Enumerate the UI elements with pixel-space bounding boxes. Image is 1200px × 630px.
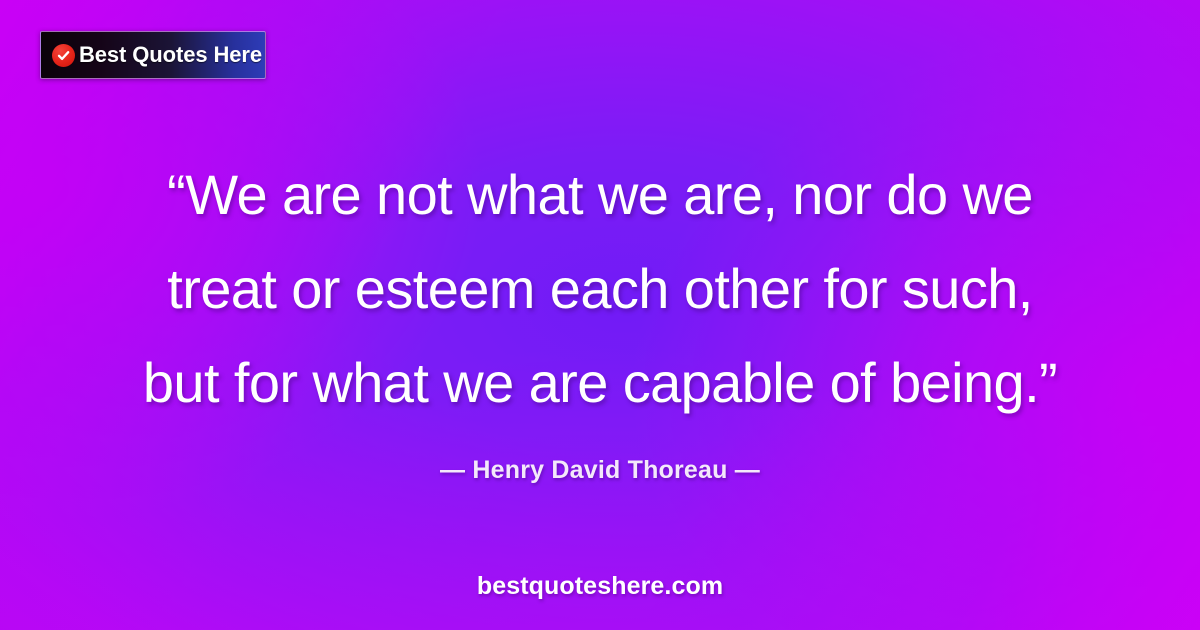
verified-check-icon bbox=[52, 44, 75, 67]
brand-badge[interactable]: Best Quotes Here bbox=[40, 31, 266, 79]
quote-text: “We are not what we are, nor do we treat… bbox=[0, 148, 1200, 430]
quote-attribution: — Henry David Thoreau — bbox=[0, 456, 1200, 485]
quote-line-2: treat or esteem each other for such, bbox=[60, 242, 1140, 336]
quote-line-3: but for what we are capable of being.” bbox=[60, 336, 1140, 430]
brand-name-label: Best Quotes Here bbox=[79, 44, 262, 66]
quote-line-1: “We are not what we are, nor do we bbox=[60, 148, 1140, 242]
quote-poster: Best Quotes Here “We are not what we are… bbox=[0, 0, 1200, 630]
site-url-footer: bestquoteshere.com bbox=[0, 572, 1200, 601]
